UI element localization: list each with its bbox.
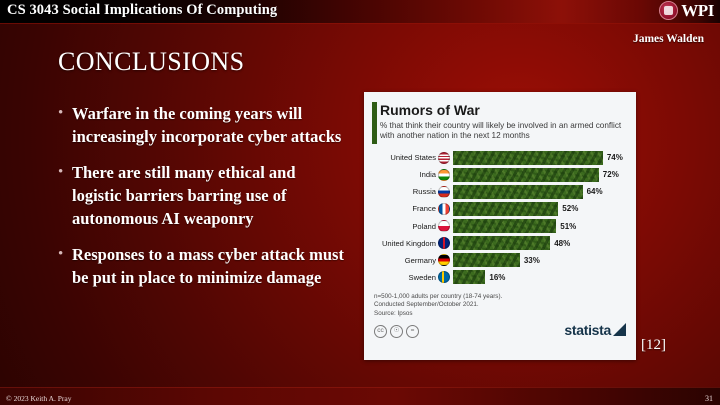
bar-value-label: 64% — [587, 187, 603, 196]
chart-accent-bar — [372, 102, 377, 144]
bar-track: 51% — [453, 219, 628, 233]
creative-commons-icons: cc ☉ = — [374, 325, 419, 338]
bar-fill — [453, 219, 556, 233]
chart-bar-row: United Kingdom48% — [364, 236, 628, 251]
chart-notes: n=500-1,000 adults per country (18-74 ye… — [364, 287, 636, 318]
us-flag-icon — [438, 152, 450, 164]
cc-by-icon: ☉ — [390, 325, 403, 338]
chart-bar-row: Sweden16% — [364, 270, 628, 285]
de-flag-icon — [438, 254, 450, 266]
bar-track: 74% — [453, 151, 628, 165]
chart-note-line: Source: Ipsos — [374, 310, 626, 318]
page-title: CONCLUSIONS — [58, 47, 244, 77]
chart-bar-row: India72% — [364, 168, 628, 183]
slide-header-bar: CS 3043 Social Implications Of Computing… — [0, 0, 720, 23]
pl-flag-icon — [438, 220, 450, 232]
bar-fill — [453, 202, 558, 216]
bar-value-label: 74% — [607, 153, 623, 162]
bullet-text: There are still many ethical and logisti… — [72, 161, 348, 230]
bullet-text: Warfare in the coming years will increas… — [72, 102, 348, 148]
cc-icon: cc — [374, 325, 387, 338]
bar-category-label: United Kingdom — [364, 239, 438, 248]
citation-reference: [12] — [641, 337, 666, 354]
bar-fill — [453, 185, 583, 199]
chart-bar-row: Poland51% — [364, 219, 628, 234]
chart-header: Rumors of War % that think their country… — [364, 92, 636, 145]
wpi-logo-text: WPI — [681, 2, 714, 19]
bar-category-label: Poland — [364, 222, 438, 231]
bar-fill — [453, 270, 485, 284]
slide-footer-bar — [0, 387, 720, 405]
author-name: James Walden — [633, 33, 704, 45]
presentation-slide: CS 3043 Social Implications Of Computing… — [0, 0, 720, 405]
chart-subtitle: % that think their country will likely b… — [380, 121, 626, 141]
chart-note-line: n=500-1,000 adults per country (18-74 ye… — [374, 293, 626, 301]
statista-mark-icon — [613, 323, 626, 336]
chart-bar-row: Germany33% — [364, 253, 628, 268]
wpi-seal-icon — [659, 1, 678, 20]
fr-flag-icon — [438, 203, 450, 215]
bar-category-label: Russia — [364, 187, 438, 196]
bar-track: 48% — [453, 236, 628, 250]
chart-bar-row: Russia64% — [364, 185, 628, 200]
course-title: CS 3043 Social Implications Of Computing — [7, 2, 277, 19]
bar-track: 72% — [453, 168, 628, 182]
bullet-marker: • — [58, 243, 72, 289]
chart-note-line: Conducted September/October 2021. — [374, 301, 626, 309]
bar-value-label: 52% — [562, 204, 578, 213]
ru-flag-icon — [438, 186, 450, 198]
bar-category-label: United States — [364, 153, 438, 162]
bar-fill — [453, 253, 520, 267]
bar-track: 64% — [453, 185, 628, 199]
bar-value-label: 33% — [524, 256, 540, 265]
bar-value-label: 48% — [554, 239, 570, 248]
statista-chart-card: Rumors of War % that think their country… — [364, 92, 636, 360]
bar-fill — [453, 236, 550, 250]
bar-category-label: Germany — [364, 256, 438, 265]
bar-value-label: 16% — [489, 273, 505, 282]
page-number: 31 — [705, 394, 713, 403]
statista-logo-text: statista — [564, 322, 611, 338]
gb-flag-icon — [438, 237, 450, 249]
copyright-text: © 2023 Keith A. Pray — [6, 394, 72, 403]
bullet-list: • Warfare in the coming years will incre… — [58, 102, 348, 302]
bar-value-label: 51% — [560, 222, 576, 231]
se-flag-icon — [438, 271, 450, 283]
chart-footer-row: cc ☉ = statista — [364, 318, 636, 345]
wpi-logo: WPI — [659, 1, 714, 20]
bar-track: 52% — [453, 202, 628, 216]
chart-bars: United States74%India72%Russia64%France5… — [364, 150, 636, 284]
bar-category-label: France — [364, 204, 438, 213]
bar-category-label: Sweden — [364, 273, 438, 282]
list-item: • Warfare in the coming years will incre… — [58, 102, 348, 148]
bullet-marker: • — [58, 102, 72, 148]
bar-fill — [453, 168, 599, 182]
cc-nd-icon: = — [406, 325, 419, 338]
bar-category-label: India — [364, 170, 438, 179]
chart-title: Rumors of War — [380, 102, 626, 118]
bullet-marker: • — [58, 161, 72, 230]
in-flag-icon — [438, 169, 450, 181]
bar-value-label: 72% — [603, 170, 619, 179]
statista-logo: statista — [564, 322, 626, 338]
list-item: • There are still many ethical and logis… — [58, 161, 348, 230]
chart-bar-row: United States74% — [364, 150, 628, 165]
chart-bar-row: France52% — [364, 202, 628, 217]
bar-track: 16% — [453, 270, 628, 284]
bar-track: 33% — [453, 253, 628, 267]
bullet-text: Responses to a mass cyber attack must be… — [72, 243, 348, 289]
bar-fill — [453, 151, 603, 165]
list-item: • Responses to a mass cyber attack must … — [58, 243, 348, 289]
